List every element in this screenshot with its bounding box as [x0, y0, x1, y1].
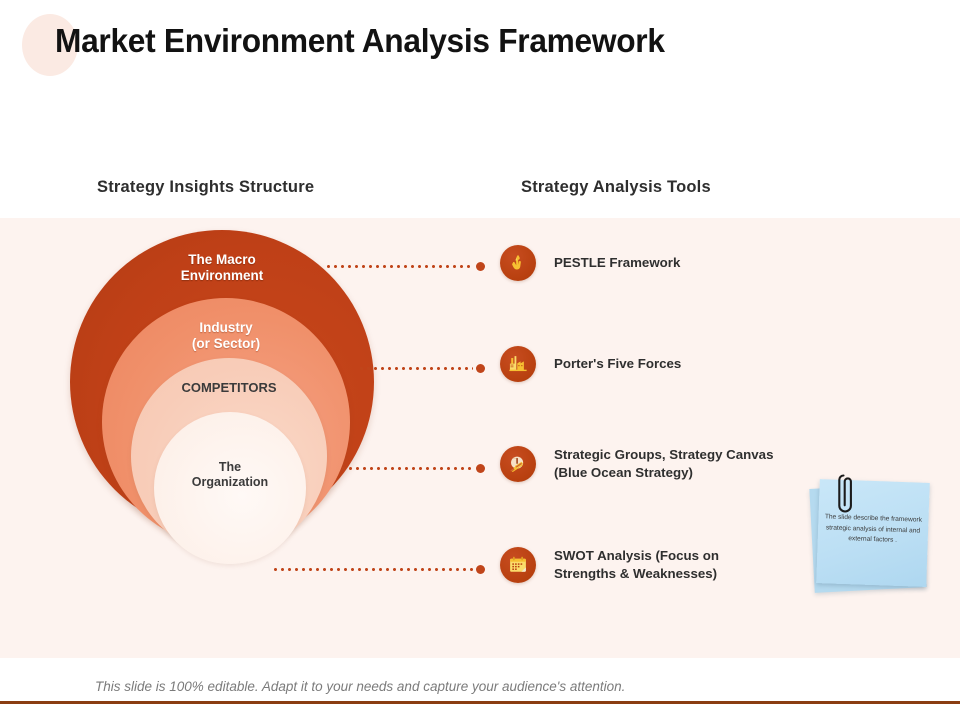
connector-dots: [358, 367, 473, 370]
ring-organization[interactable]: The Organization: [154, 412, 306, 564]
connector-dots: [325, 265, 473, 268]
footer-note: This slide is 100% editable. Adapt it to…: [95, 679, 625, 694]
factory-icon: [500, 346, 536, 382]
sticky-note[interactable]: The slide describe the framework strateg…: [806, 478, 934, 596]
blue-ocean-icon: [500, 446, 536, 482]
connector-line-4: [272, 567, 485, 571]
calendar-icon: [500, 547, 536, 583]
ring-label-organization: The Organization: [154, 460, 306, 490]
connector-line-2: [358, 366, 485, 370]
tool-label-swot: SWOT Analysis (Focus on Strengths & Weak…: [554, 547, 719, 582]
connector-endpoint-dot: [476, 262, 485, 271]
slide-canvas: Market Environment Analysis Framework St…: [0, 0, 960, 720]
connector-line-3: [340, 466, 485, 470]
connector-endpoint-dot: [476, 364, 485, 373]
connector-dots: [272, 568, 473, 571]
sticky-note-text: The slide describe the framework strateg…: [819, 512, 926, 548]
ring-label-competitors: COMPETITORS: [131, 380, 327, 395]
connector-dots: [340, 467, 473, 470]
hands-holding-flame-icon: [500, 245, 536, 281]
tool-label-pestle: PESTLE Framework: [554, 254, 680, 272]
tool-row-pestle[interactable]: PESTLE Framework: [500, 245, 680, 281]
tool-row-porters[interactable]: Porter's Five Forces: [500, 346, 681, 382]
right-column-heading: Strategy Analysis Tools: [521, 178, 711, 197]
connector-endpoint-dot: [476, 565, 485, 574]
paperclip-icon: [836, 472, 858, 516]
left-column-heading: Strategy Insights Structure: [97, 178, 314, 197]
page-title: Market Environment Analysis Framework: [55, 22, 665, 60]
tool-label-strategic-groups: Strategic Groups, Strategy Canvas (Blue …: [554, 446, 773, 481]
connector-line-1: [325, 264, 485, 268]
tool-row-swot[interactable]: SWOT Analysis (Focus on Strengths & Weak…: [500, 547, 719, 583]
footer-divider: [0, 701, 960, 704]
connector-endpoint-dot: [476, 464, 485, 473]
tool-label-porters: Porter's Five Forces: [554, 355, 681, 373]
tool-row-strategic-groups[interactable]: Strategic Groups, Strategy Canvas (Blue …: [500, 446, 773, 482]
ring-label-industry-sector: Industry (or Sector): [102, 320, 350, 352]
